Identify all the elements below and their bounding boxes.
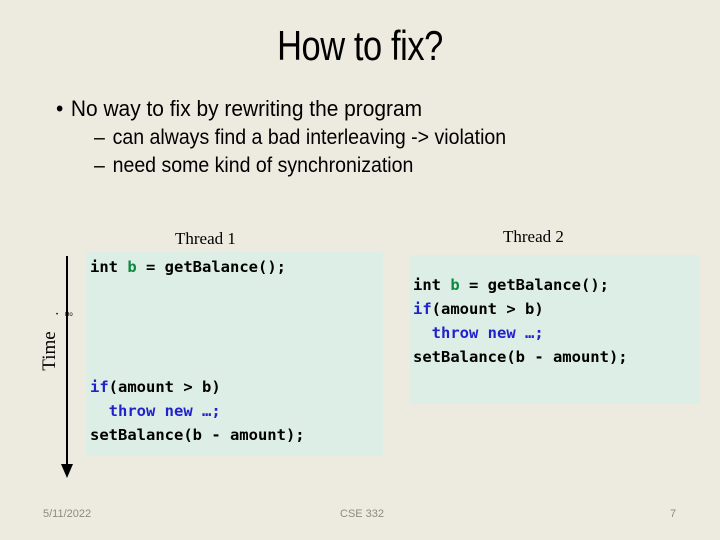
artifact-text: Ho [65,312,73,318]
code-text: int [413,276,450,294]
time-axis-arrowhead-icon [61,464,73,478]
code-text: = getBalance(); [137,258,286,276]
bullet-marker-dash: – [94,124,113,152]
thread-1-label: Thread 1 [175,229,236,249]
artifact-marker: • [56,312,65,318]
code-line: int b = getBalance(); [413,273,700,297]
code-text [90,402,109,420]
code-blank-lines [90,279,383,375]
code-line: throw new …; [90,399,383,423]
code-keyword: if [90,378,109,396]
code-keyword: throw new …; [432,324,544,342]
code-text: setBalance(b - amount); [90,426,305,444]
thread-1-code-block: int b = getBalance();if(amount > b) thro… [86,252,383,456]
bullet-level1: •No way to fix by rewriting the program [56,95,633,124]
bullet-level2-text: can always find a bad interleaving -> vi… [113,126,507,149]
time-axis-label: Time [39,321,61,381]
footer-date: 5/11/2022 [43,508,91,520]
code-text: (amount > b) [432,300,544,318]
bullet-marker-dash: – [94,152,113,180]
code-line: int b = getBalance(); [90,255,383,279]
thread-2-label: Thread 2 [503,227,564,247]
code-keyword: throw new …; [109,402,221,420]
page-title: How to fix? [65,22,655,70]
code-line: if(amount > b) [413,297,700,321]
code-text: int [90,258,127,276]
footer-page-number: 7 [670,508,676,520]
code-text [413,324,432,342]
bullet-marker-dot: • [56,95,71,124]
code-line: setBalance(b - amount); [413,345,700,369]
bullet-level2-item: –can always find a bad interleaving -> v… [94,124,635,152]
bullet-level2-item: –need some kind of synchronization [94,152,635,180]
code-text: = getBalance(); [460,276,609,294]
code-text: setBalance(b - amount); [413,348,628,366]
code-variable: b [450,276,459,294]
bullet-level2-text: need some kind of synchronization [113,154,414,177]
code-line: setBalance(b - amount); [90,423,383,447]
code-keyword: if [413,300,432,318]
thread-2-code-block: int b = getBalance();if(amount > b) thro… [410,255,700,404]
code-line: throw new …; [413,321,700,345]
code-line: if(amount > b) [90,375,383,399]
bullet-level1-text: No way to fix by rewriting the program [71,96,422,121]
footer-course: CSE 332 [340,508,384,520]
code-variable: b [127,258,136,276]
time-axis-line [66,256,68,468]
bullet-list: •No way to fix by rewriting the program … [56,95,676,179]
code-text: (amount > b) [109,378,221,396]
